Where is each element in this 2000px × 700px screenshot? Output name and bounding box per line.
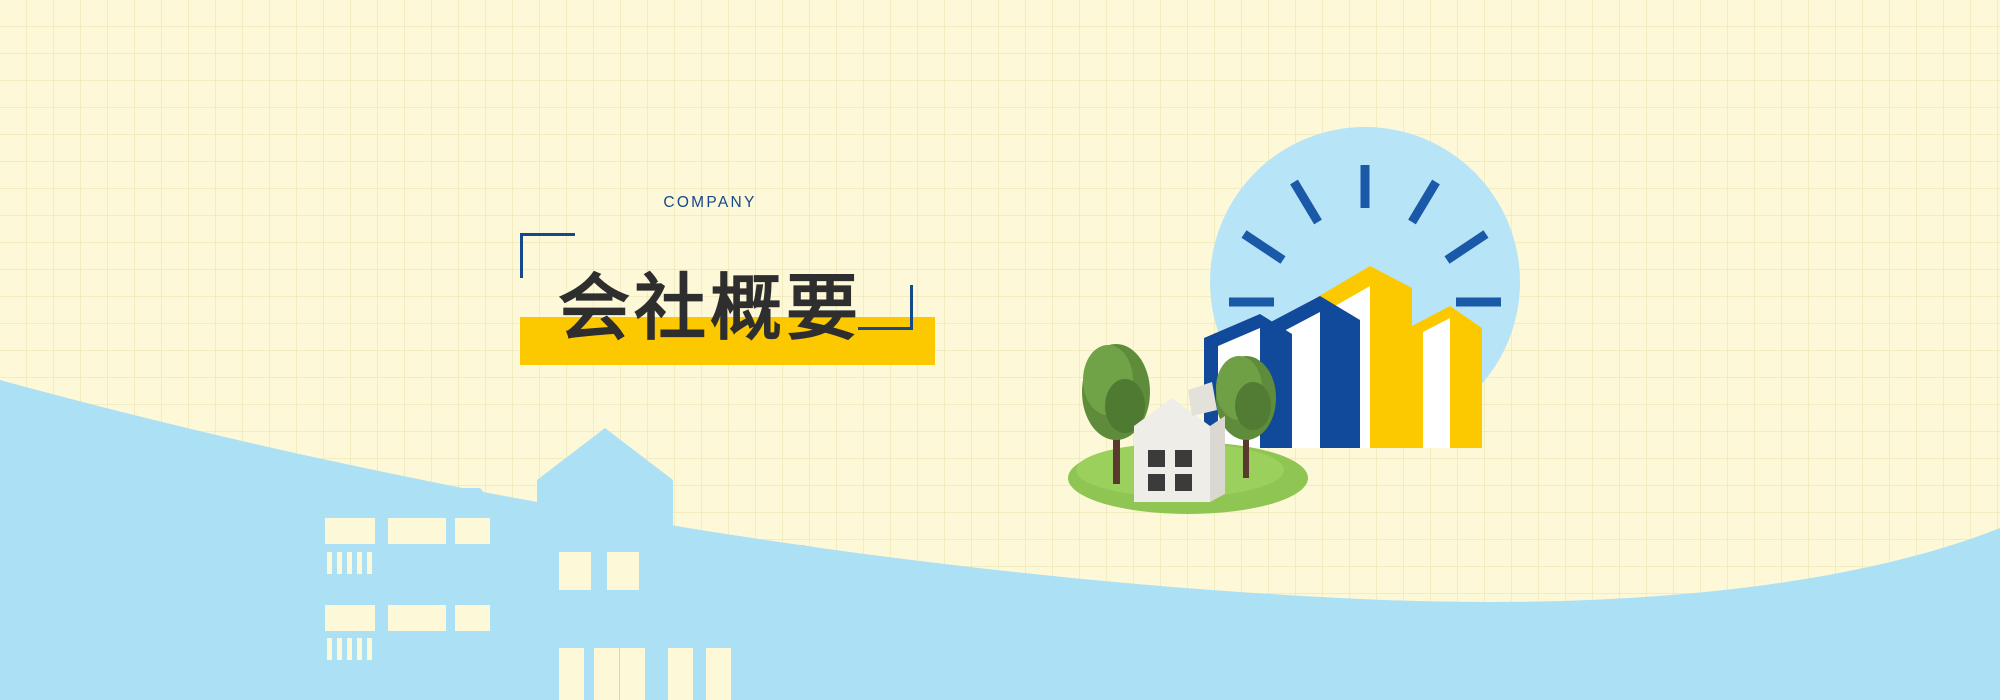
page-title: 会社概要 — [410, 271, 1010, 349]
house-side — [1210, 416, 1225, 502]
eyebrow-label: COMPANY — [410, 195, 1010, 211]
wave-shapes — [0, 380, 2000, 700]
title-block: COMPANY 会社概要 — [410, 195, 1010, 365]
building-right-yellow-face — [1423, 318, 1450, 448]
house-chimney — [1188, 382, 1217, 416]
wave-body — [0, 380, 2000, 700]
company-illustration — [1020, 110, 1580, 530]
hero-banner: COMPANY 会社概要 — [0, 0, 2000, 700]
